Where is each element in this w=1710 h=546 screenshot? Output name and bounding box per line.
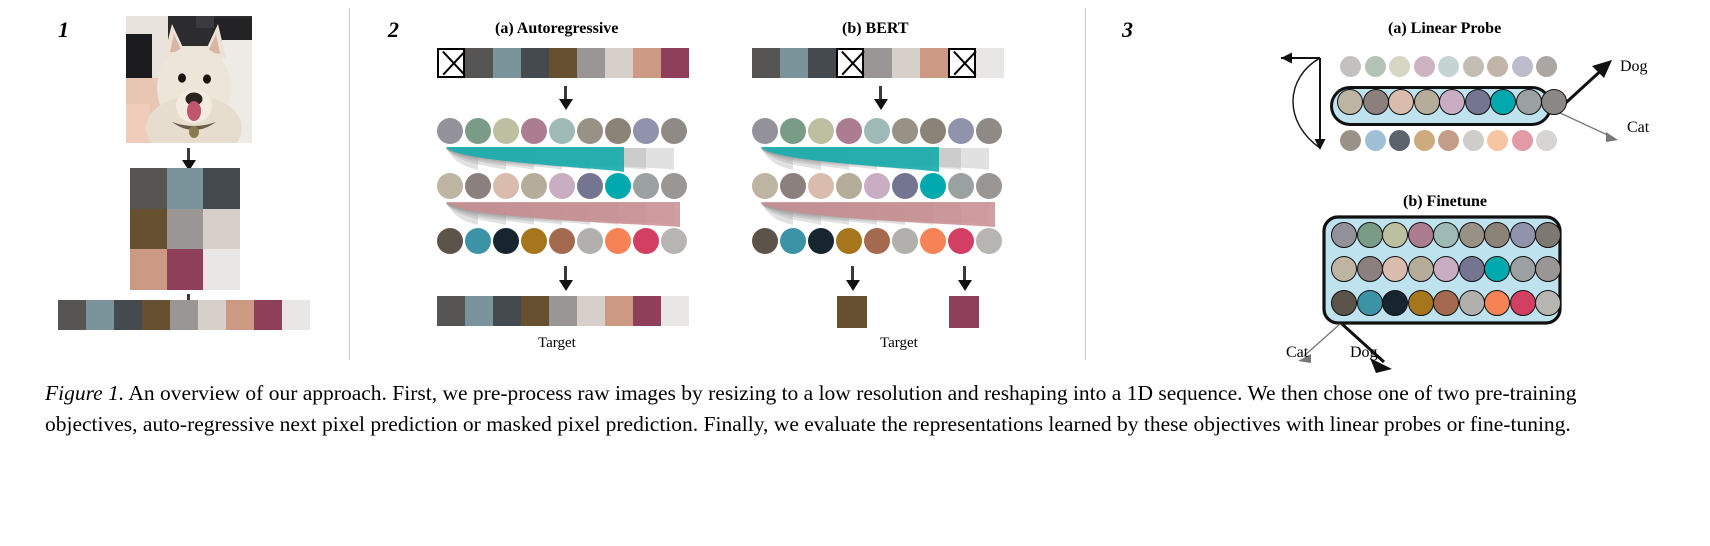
token-circle (577, 228, 603, 254)
bert-input-strip (752, 48, 1004, 78)
strip-cell (577, 48, 605, 78)
token-circle (1463, 56, 1484, 77)
token-circle (976, 228, 1002, 254)
token-circle (1535, 256, 1561, 282)
strip-cell (577, 296, 605, 326)
token-circle (1433, 222, 1459, 248)
token-circle (920, 228, 946, 254)
token-circle (808, 228, 834, 254)
token-circle (577, 118, 603, 144)
ar-layer-row-3 (437, 228, 689, 254)
pixel-grid-3x3 (130, 168, 240, 290)
token-circle (1536, 56, 1557, 77)
strip-cell (892, 48, 920, 78)
finetune-dog-label: Dog (1350, 344, 1378, 362)
token-circle (1487, 130, 1508, 151)
token-circle (1512, 56, 1533, 77)
token-circle (1535, 290, 1561, 316)
strip-cell (465, 48, 493, 78)
linear-probe-row-top (1340, 56, 1561, 77)
token-circle (521, 173, 547, 199)
strip-cell (521, 48, 549, 78)
autoregressive-target-strip (437, 296, 689, 326)
token-circle (1510, 222, 1536, 248)
strip-cell (808, 48, 836, 78)
figure-number: Figure 1. (45, 381, 124, 405)
strip-cell (549, 296, 577, 326)
token-circle (1331, 256, 1357, 282)
linear-probe-cat-label: Cat (1627, 119, 1649, 137)
pixel-cell (203, 249, 240, 290)
token-circle (808, 118, 834, 144)
token-circle (1438, 130, 1459, 151)
token-circle (1408, 222, 1434, 248)
token-circle (1389, 56, 1410, 77)
panel-1-number: 1 (58, 17, 69, 43)
token-circle (920, 173, 946, 199)
token-circle (1408, 290, 1434, 316)
token-circle (1357, 290, 1383, 316)
autoregressive-input-strip (437, 48, 689, 78)
token-circle (1365, 130, 1386, 151)
token-circle (1438, 56, 1459, 77)
token-circle (1363, 89, 1389, 115)
token-circle (1414, 130, 1435, 151)
token-circle (1487, 56, 1508, 77)
ar-layer-row-2 (437, 173, 689, 199)
token-circle (836, 228, 862, 254)
token-circle (521, 118, 547, 144)
token-circle (549, 173, 575, 199)
token-circle (892, 118, 918, 144)
token-circle (752, 228, 778, 254)
token-circle (1331, 290, 1357, 316)
strip-cell (752, 48, 780, 78)
linear-probe-row-mid (1337, 89, 1567, 115)
token-circle (1388, 89, 1414, 115)
panel-2b-title: (b) BERT (842, 20, 909, 38)
token-circle (864, 173, 890, 199)
token-circle (1382, 290, 1408, 316)
token-circle (780, 118, 806, 144)
bert-target-square-2 (949, 296, 979, 328)
bert-layer-row-1 (752, 118, 1004, 144)
divider-1 (349, 8, 350, 360)
token-circle (1510, 256, 1536, 282)
panel-2-number: 2 (388, 17, 399, 43)
token-circle (493, 173, 519, 199)
panel-3a-title: (a) Linear Probe (1388, 20, 1501, 38)
strip-cell (142, 300, 170, 330)
token-circle (1516, 89, 1542, 115)
pixel-cell (167, 168, 204, 209)
bert-target-label: Target (880, 335, 918, 352)
token-circle (892, 173, 918, 199)
token-circle (808, 173, 834, 199)
strip-cell (605, 296, 633, 326)
mask-token-icon (437, 48, 465, 78)
token-circle (1439, 89, 1465, 115)
token-circle (465, 228, 491, 254)
token-circle (1484, 290, 1510, 316)
strip-cell (549, 48, 577, 78)
token-circle (1365, 56, 1386, 77)
pixel-cell (167, 209, 204, 250)
mask-token-icon (836, 48, 864, 78)
pixel-cell (130, 209, 167, 250)
token-circle (1459, 290, 1485, 316)
pixel-cell (130, 249, 167, 290)
strip-cell (633, 296, 661, 326)
figure-caption: Figure 1. An overview of our approach. F… (45, 378, 1670, 439)
token-circle (976, 118, 1002, 144)
token-circle (1484, 222, 1510, 248)
strip-cell (254, 300, 282, 330)
token-circle (780, 173, 806, 199)
token-circle (1433, 256, 1459, 282)
token-circle (1433, 290, 1459, 316)
finetune-cat-label: Cat (1286, 344, 1308, 362)
figure-1-diagram: 1 (0, 0, 1710, 370)
token-circle (1536, 130, 1557, 151)
token-circle (661, 228, 687, 254)
token-circle (1535, 222, 1561, 248)
token-circle (577, 173, 603, 199)
strip-cell (58, 300, 86, 330)
token-circle (437, 118, 463, 144)
token-circle (493, 118, 519, 144)
token-circle (1357, 222, 1383, 248)
token-circle (633, 228, 659, 254)
pixel-cell (203, 209, 240, 250)
token-circle (1389, 130, 1410, 151)
bert-target-square-1 (837, 296, 867, 328)
token-circle (1510, 290, 1536, 316)
pixel-cell (130, 168, 167, 209)
strip-cell (282, 300, 310, 330)
strip-cell (170, 300, 198, 330)
token-circle (633, 173, 659, 199)
token-circle (864, 118, 890, 144)
token-circle (661, 173, 687, 199)
strip-cell (605, 48, 633, 78)
token-circle (920, 118, 946, 144)
token-circle (1512, 130, 1533, 151)
strip-cell (114, 300, 142, 330)
token-circle (549, 228, 575, 254)
token-circle (437, 173, 463, 199)
strip-cell (493, 48, 521, 78)
strip-cell (198, 300, 226, 330)
linear-probe-row-bottom (1340, 130, 1561, 151)
bert-layer-row-3 (752, 228, 1004, 254)
token-circle (1357, 256, 1383, 282)
linear-probe-dog-label: Dog (1620, 58, 1648, 76)
token-circle (465, 173, 491, 199)
token-circle (1382, 256, 1408, 282)
token-circle (1331, 222, 1357, 248)
strip-cell (86, 300, 114, 330)
token-circle (976, 173, 1002, 199)
pixel-cell (167, 249, 204, 290)
mask-token-icon (948, 48, 976, 78)
token-circle (605, 118, 631, 144)
strip-cell (864, 48, 892, 78)
token-circle (1463, 130, 1484, 151)
token-circle (1337, 89, 1363, 115)
token-circle (437, 228, 463, 254)
strip-cell (521, 296, 549, 326)
finetune-row-2 (1331, 256, 1561, 282)
token-circle (1465, 89, 1491, 115)
token-circle (1414, 56, 1435, 77)
strip-cell (780, 48, 808, 78)
autoregressive-target-label: Target (538, 335, 576, 352)
token-circle (465, 118, 491, 144)
strip-cell (976, 48, 1004, 78)
token-circle (752, 173, 778, 199)
panel-3-number: 3 (1122, 17, 1133, 43)
token-circle (661, 118, 687, 144)
strip-cell (493, 296, 521, 326)
token-circle (1340, 56, 1361, 77)
bert-layer-row-2 (752, 173, 1004, 199)
token-circle (1541, 89, 1567, 115)
divider-2 (1085, 8, 1086, 360)
token-circle (864, 228, 890, 254)
token-circle (948, 228, 974, 254)
token-circle (836, 118, 862, 144)
pixel-cell (203, 168, 240, 209)
token-circle (1340, 130, 1361, 151)
token-circle (605, 228, 631, 254)
token-circle (1459, 256, 1485, 282)
token-circle (836, 173, 862, 199)
token-circle (493, 228, 519, 254)
finetune-row-3 (1331, 290, 1561, 316)
token-circle (892, 228, 918, 254)
figure-caption-text: An overview of our approach. First, we p… (45, 381, 1577, 436)
token-circle (1382, 222, 1408, 248)
strip-cell (437, 296, 465, 326)
panel-3b-title: (b) Finetune (1403, 193, 1487, 211)
strip-cell (661, 48, 689, 78)
strip-cell (633, 48, 661, 78)
token-circle (1490, 89, 1516, 115)
token-circle (948, 118, 974, 144)
strip-cell (465, 296, 493, 326)
strip-cell (920, 48, 948, 78)
token-circle (752, 118, 778, 144)
panel-2a-title: (a) Autoregressive (495, 20, 618, 38)
token-circle (521, 228, 547, 254)
ar-layer-row-1 (437, 118, 689, 144)
strip-cell (226, 300, 254, 330)
token-circle (1408, 256, 1434, 282)
token-circle (948, 173, 974, 199)
token-circle (605, 173, 631, 199)
token-circle (549, 118, 575, 144)
token-circle (1414, 89, 1440, 115)
dog-photo (126, 16, 252, 143)
finetune-row-1 (1331, 222, 1561, 248)
token-circle (633, 118, 659, 144)
token-circle (1484, 256, 1510, 282)
token-circle (780, 228, 806, 254)
token-circle (1459, 222, 1485, 248)
sequence-1d (58, 300, 310, 330)
strip-cell (661, 296, 689, 326)
